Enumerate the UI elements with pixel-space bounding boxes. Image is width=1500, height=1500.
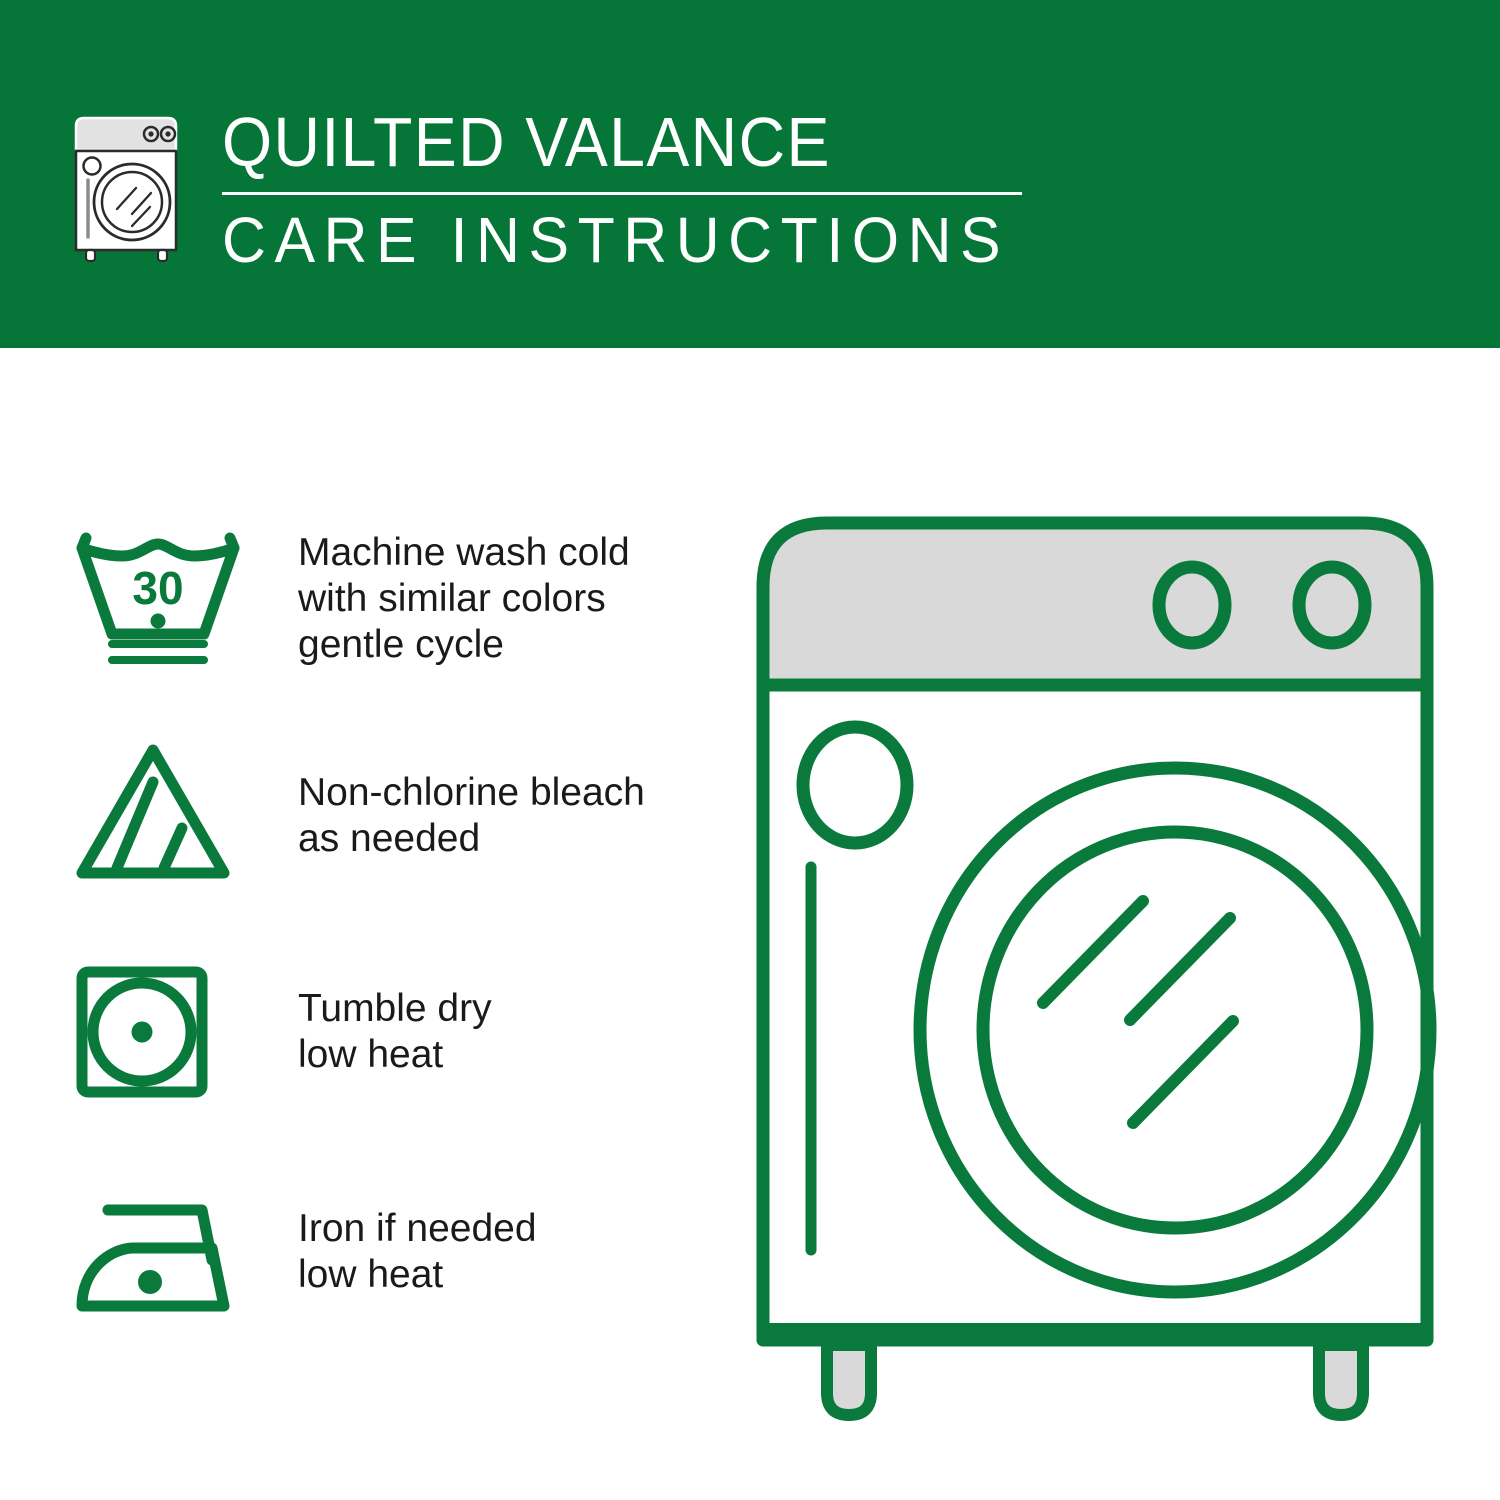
iron-low-heat-icon [72,1160,272,1318]
leg-left [827,1345,871,1415]
title-block: QUILTED VALANCE CARE INSTRUCTIONS [222,104,1051,273]
tumble-dry-low-heat-icon [72,940,272,1102]
care-text-line: gentle cycle [298,622,692,668]
care-row-wash: 30 Machine wash cold with similar colors… [72,500,692,720]
care-text-iron: Iron if needed low heat [272,1160,692,1298]
care-text-line: low heat [298,1032,692,1078]
page-title: QUILTED VALANCE [222,106,984,178]
control-panel [763,523,1427,685]
title-divider [222,192,1022,195]
page-subtitle: CARE INSTRUCTIONS [222,207,1009,273]
care-text-line: low heat [298,1252,692,1298]
care-text-line: Iron if needed [298,1206,692,1252]
care-text-line: as needed [298,816,692,862]
care-text-line: Non-chlorine bleach [298,770,692,816]
care-text-tumble-dry: Tumble dry low heat [272,940,692,1078]
care-row-tumble-dry: Tumble dry low heat [72,940,692,1160]
care-text-line: Tumble dry [298,986,692,1032]
non-chlorine-bleach-triangle-icon [72,720,272,885]
care-text-wash: Machine wash cold with similar colors ge… [272,500,692,668]
care-text-bleach: Non-chlorine bleach as needed [272,720,692,862]
care-instructions-page: QUILTED VALANCE CARE INSTRUCTIONS [0,0,1500,1500]
wash-temperature-value: 30 [132,562,183,614]
header-banner: QUILTED VALANCE CARE INSTRUCTIONS [0,0,1500,348]
front-load-washing-machine-illustration [735,495,1455,1425]
wash-tub-30-gentle-icon: 30 [72,500,272,666]
leg-right [1319,1345,1363,1415]
care-text-line: with similar colors [298,576,692,622]
care-row-bleach: Non-chlorine bleach as needed [72,720,692,940]
header-content: QUILTED VALANCE CARE INSTRUCTIONS [62,104,1051,273]
care-row-iron: Iron if needed low heat [72,1160,692,1380]
care-text-line: Machine wash cold [298,530,692,576]
care-instruction-list: 30 Machine wash cold with similar colors… [72,500,692,1380]
washing-machine-icon [62,110,190,270]
